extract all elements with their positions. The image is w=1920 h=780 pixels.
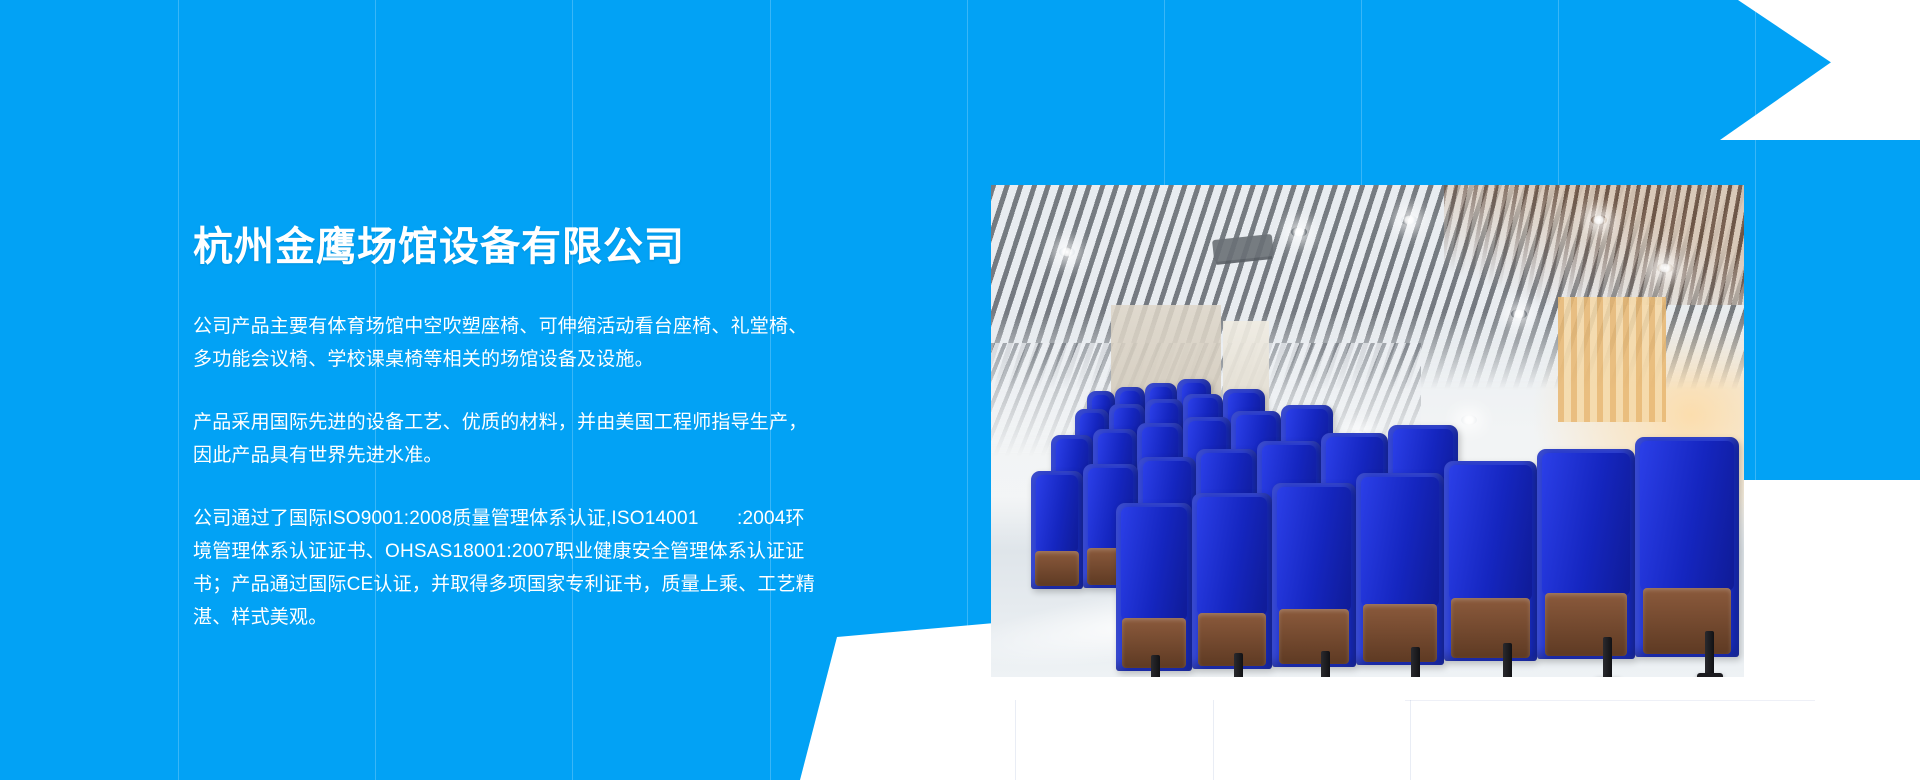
intro-paragraph-technology: 产品采用国际先进的设备工艺、优质的材料，并由美国工程师指导生产，因此产品具有世界… xyxy=(193,406,818,472)
company-title: 杭州金鹰场馆设备有限公司 xyxy=(193,222,818,272)
company-banner: 杭州金鹰场馆设备有限公司 公司产品主要有体育场馆中空吹塑座椅、可伸缩活动看台座椅… xyxy=(0,0,1920,780)
seat-rows xyxy=(991,185,1744,677)
auditorium-seating-photo xyxy=(991,185,1744,677)
intro-paragraph-products: 公司产品主要有体育场馆中空吹塑座椅、可伸缩活动看台座椅、礼堂椅、多功能会议椅、学… xyxy=(193,310,818,376)
company-text-column: 杭州金鹰场馆设备有限公司 公司产品主要有体育场馆中空吹塑座椅、可伸缩活动看台座椅… xyxy=(193,222,818,634)
intro-paragraph-certifications: 公司通过了国际ISO9001:2008质量管理体系认证,ISO14001 :20… xyxy=(193,502,818,634)
